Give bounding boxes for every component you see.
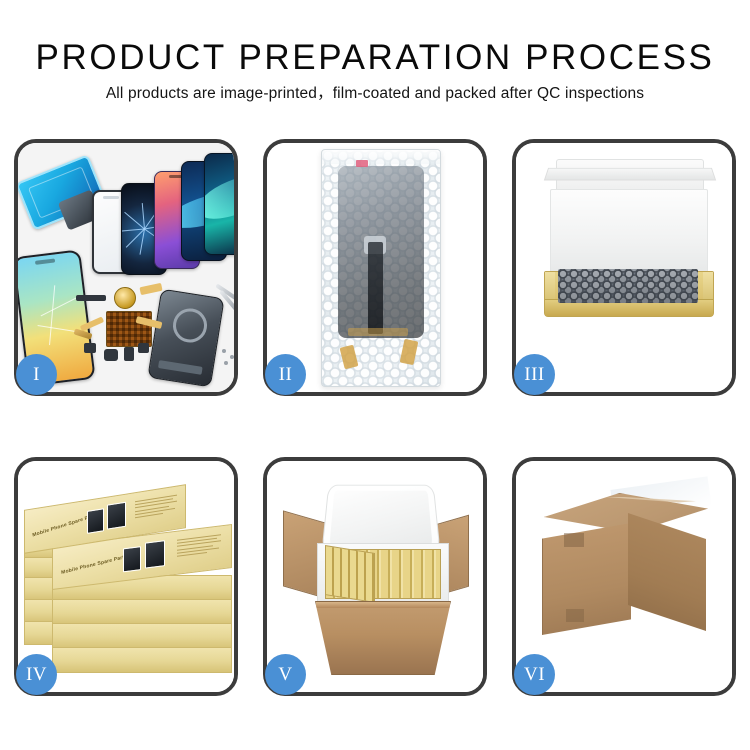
process-step-panel-5[interactable]: V bbox=[263, 457, 487, 696]
step-badge-5: V bbox=[265, 654, 306, 695]
gold-contact-strip bbox=[348, 328, 408, 336]
stack-box-r2 bbox=[52, 599, 232, 625]
phone-back-housing bbox=[147, 289, 224, 388]
box-art-screen-b2 bbox=[145, 540, 165, 568]
sealed-carton-side bbox=[628, 513, 706, 631]
gold-contact-right bbox=[400, 339, 419, 365]
wireless-coil bbox=[171, 306, 210, 345]
foam-lined-tray-scene bbox=[516, 143, 732, 392]
carton-seam-upper bbox=[564, 533, 584, 547]
stack-box-r4 bbox=[52, 647, 232, 673]
box-art-screen-a1 bbox=[87, 508, 104, 534]
box-stack: Mobile Phone Spare Parts Mobile Phone Sp… bbox=[24, 479, 230, 675]
process-step-panel-4[interactable]: Mobile Phone Spare Parts Mobile Phone Sp… bbox=[14, 457, 238, 696]
process-step-panel-6[interactable]: VI bbox=[512, 457, 736, 696]
gold-contact-left bbox=[340, 345, 359, 370]
page-subtitle: All products are image-printed，film-coat… bbox=[0, 86, 750, 102]
bubble-wrapped-screen-scene bbox=[267, 143, 483, 392]
panel-3-image bbox=[516, 143, 732, 392]
housing-strip bbox=[158, 360, 203, 375]
carton-with-foam-scene bbox=[267, 461, 483, 692]
bag-seam bbox=[322, 150, 440, 164]
box-art-screen-a2 bbox=[123, 546, 141, 572]
step-badge-4: IV bbox=[16, 654, 57, 695]
stacked-retail-boxes-scene: Mobile Phone Spare Parts Mobile Phone Sp… bbox=[18, 461, 234, 692]
small-chip-2 bbox=[84, 343, 96, 353]
screw-dot-1 bbox=[222, 349, 226, 353]
box-label-2: Mobile Phone Spare Parts bbox=[61, 554, 128, 576]
gold-speaker-coil bbox=[114, 287, 136, 309]
white-foam-sheet bbox=[550, 189, 708, 277]
panel-2-image bbox=[267, 143, 483, 392]
process-step-panel-3[interactable]: III bbox=[512, 139, 736, 396]
pink-label-sticker bbox=[356, 160, 368, 167]
lcd-flex-cable bbox=[368, 242, 383, 334]
step-badge-6: VI bbox=[514, 654, 555, 695]
step-badge-2: II bbox=[265, 354, 306, 395]
carton-rim bbox=[316, 602, 450, 608]
step-badge-1: I bbox=[16, 354, 57, 395]
small-chip-3 bbox=[104, 349, 118, 361]
screw-dot-2 bbox=[230, 355, 234, 359]
flex-cable-1 bbox=[139, 283, 162, 295]
carton-body bbox=[315, 601, 451, 675]
page-title: PRODUCT PREPARATION PROCESS bbox=[0, 40, 750, 75]
process-step-grid: I II bbox=[14, 139, 736, 679]
process-step-panel-1[interactable]: I bbox=[14, 139, 238, 396]
box-spec-lines-1 bbox=[135, 494, 179, 520]
phone-parts-scene bbox=[18, 143, 234, 392]
screw-dot-3 bbox=[224, 361, 228, 365]
stack-box-r3 bbox=[52, 623, 232, 649]
sealed-carton-front bbox=[542, 523, 631, 635]
product-preparation-process-page: PRODUCT PREPARATION PROCESS All products… bbox=[0, 0, 750, 750]
small-chip-1 bbox=[76, 295, 106, 301]
teal-swirl-phone bbox=[204, 153, 234, 255]
box-art-screen-b1 bbox=[107, 502, 126, 530]
box-spec-lines-2 bbox=[177, 534, 223, 559]
grey-bubble-wrapped-parts bbox=[558, 269, 698, 303]
box-lid-fold bbox=[544, 168, 716, 181]
panel-5-image bbox=[267, 461, 483, 692]
process-step-panel-2[interactable]: II bbox=[263, 139, 487, 396]
panel-4-image: Mobile Phone Spare Parts Mobile Phone Sp… bbox=[18, 461, 234, 692]
gold-boxes-side-rows bbox=[325, 545, 375, 603]
carton-seam-lower bbox=[566, 609, 584, 622]
panel-6-image bbox=[516, 461, 732, 692]
bubble-wrap-bag bbox=[321, 149, 441, 387]
small-chip-4 bbox=[124, 347, 134, 361]
screw-tray bbox=[106, 311, 152, 347]
panel-1-image bbox=[18, 143, 234, 392]
step-badge-3: III bbox=[514, 354, 555, 395]
sealed-carton-scene bbox=[516, 461, 732, 692]
small-chip-5 bbox=[138, 343, 149, 353]
